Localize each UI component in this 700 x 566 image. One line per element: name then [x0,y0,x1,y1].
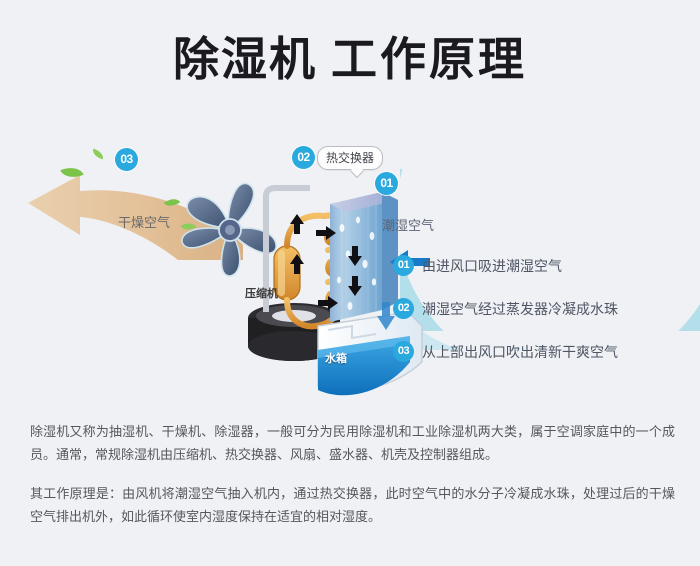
body-copy: 除湿机又称为抽湿机、干燥机、除湿器，一般可分为民用除湿机和工业除湿机两大类，属于… [30,420,675,544]
legend-item: 02 潮湿空气经过蒸发器冷凝成水珠 [393,298,683,319]
legend-text-01: 由进风口吸进潮湿空气 [422,256,562,276]
page-title-part2: 工作原理 [331,33,527,85]
body-paragraph-2: 其工作原理是：由风机将潮湿空气抽入机内，通过热交换器，此时空气中的水分子冷凝成水… [30,482,675,528]
legend-badge-02: 02 [393,298,414,319]
legend-item: 03 从上部出风口吹出清新干爽空气 [393,341,683,362]
diagram-badge-01: 01 [375,172,398,195]
diagram-badge-03: 03 [115,148,138,171]
page-title: 除湿机工作原理 [0,34,700,85]
legend-list: 01 由进风口吸进潮湿空气 02 潮湿空气经过蒸发器冷凝成水珠 03 从上部出风… [393,255,683,384]
body-paragraph-1: 除湿机又称为抽湿机、干燥机、除湿器，一般可分为民用除湿机和工业除湿机两大类，属于… [30,420,675,466]
legend-badge-03: 03 [393,341,414,362]
dry-air-label: 干燥空气 [118,212,170,231]
page-title-part1: 除湿机 [173,33,317,85]
legend-text-02: 潮湿空气经过蒸发器冷凝成水珠 [422,299,618,319]
diagram-badge-02: 02 [292,146,315,169]
legend-badge-01: 01 [393,255,414,276]
heat-exchanger-callout: 热交换器 [317,146,383,170]
moist-air-label: 潮湿空气 [382,215,434,234]
legend-item: 01 由进风口吸进潮湿空气 [393,255,683,276]
water-tank-label: 水箱 [325,350,347,366]
compressor-label: 压缩机 [245,285,278,301]
legend-text-03: 从上部出风口吹出清新干爽空气 [422,342,618,362]
leaf-icon [91,149,105,160]
infographic-page: 除湿机工作原理 [0,0,700,566]
